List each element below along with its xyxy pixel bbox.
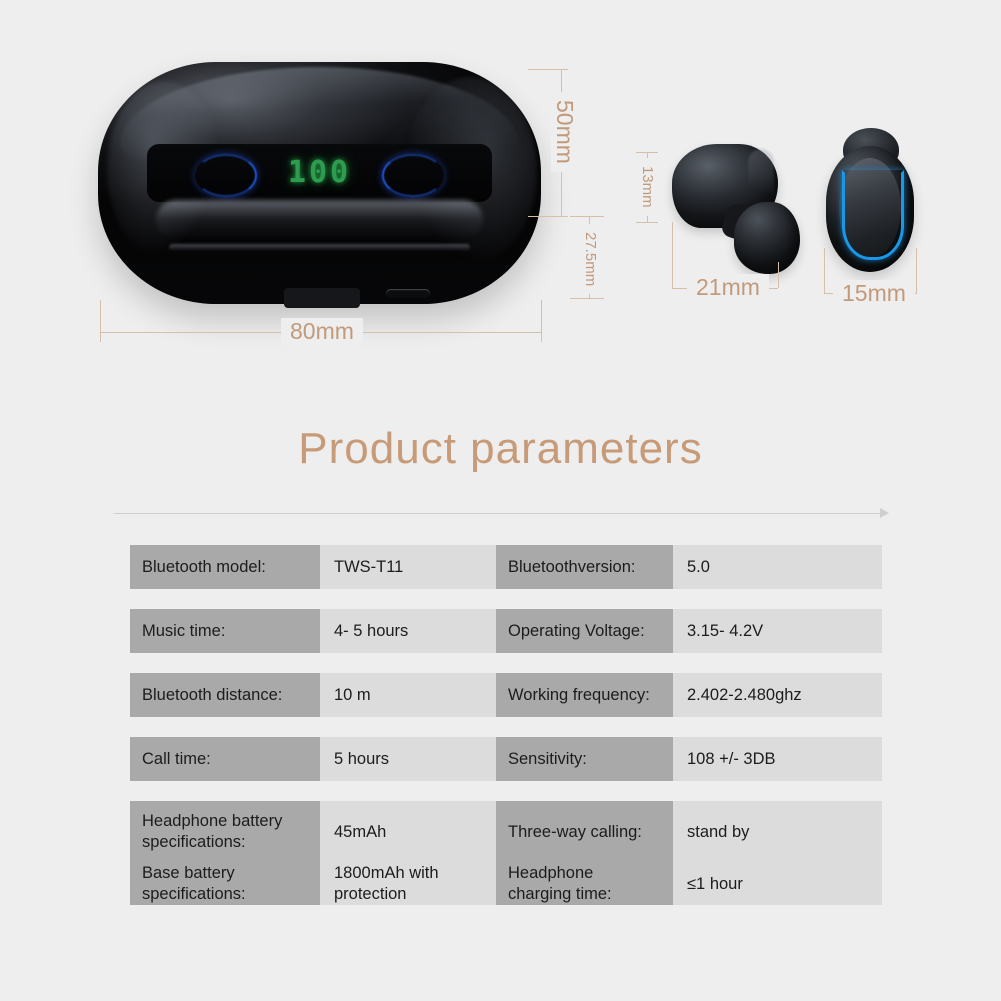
case-width-tick-left	[100, 300, 101, 342]
spec-label-line2: specifications:	[142, 884, 246, 905]
spec-value: 1800mAh with protection	[320, 863, 496, 905]
led-battery-percentage: 100	[147, 155, 493, 190]
spec-label: Sensitivity:	[496, 737, 673, 781]
spec-label: Bluetoothversion:	[496, 545, 673, 589]
case-depth-tick-top	[570, 216, 604, 217]
spec-label: Working frequency:	[496, 673, 673, 717]
earbud-length-tick-left	[672, 222, 673, 288]
case-height-tick-mid	[528, 216, 568, 217]
spec-label: Bluetooth distance:	[130, 673, 320, 717]
spec-label: Headphone charging time:	[496, 863, 673, 905]
spec-label-line1: Headphone battery	[142, 811, 282, 832]
spec-label-line2: specifications:	[142, 832, 282, 853]
case-depth-label: 27.5mm	[582, 224, 599, 294]
table-row: Bluetooth model: TWS-T11 Bluetoothversio…	[130, 545, 882, 589]
earbud-width-label: 15mm	[833, 280, 915, 307]
table-row: Headphone battery specifications: 45mAh …	[130, 801, 882, 863]
spec-value: 45mAh	[320, 801, 496, 863]
spec-label: Bluetooth model:	[130, 545, 320, 589]
page-title: Product parameters	[0, 424, 1001, 474]
title-divider	[114, 513, 886, 514]
charging-case-image: 100	[98, 62, 541, 304]
usb-c-port-icon	[386, 289, 430, 298]
spec-value-line1: 1800mAh with	[334, 863, 439, 884]
case-bottom-notch	[284, 288, 360, 308]
spec-label-line2: charging time:	[508, 884, 612, 905]
spec-value: 4- 5 hours	[320, 609, 496, 653]
spec-value: 5 hours	[320, 737, 496, 781]
earbud-side-view-image	[672, 144, 804, 280]
case-lid-seam	[169, 244, 470, 251]
spec-label-line1: Base battery	[142, 863, 246, 884]
case-depth-tick-bottom	[570, 298, 604, 299]
spec-label: Headphone battery specifications:	[130, 801, 320, 863]
table-row: Music time: 4- 5 hours Operating Voltage…	[130, 609, 882, 653]
case-height-tick-top	[528, 69, 568, 70]
spec-value: 3.15- 4.2V	[673, 609, 882, 653]
title-divider-arrow-icon	[880, 508, 889, 518]
earbud-length-tick-right	[778, 262, 779, 288]
led-ring-indicator-icon	[842, 170, 904, 260]
spec-value: stand by	[673, 801, 882, 863]
spec-value: 2.402-2.480ghz	[673, 673, 882, 717]
case-width-label: 80mm	[281, 318, 363, 345]
earbud-width-tick-left	[824, 248, 825, 294]
spec-value: ≤1 hour	[673, 863, 882, 905]
product-specification-table: Bluetooth model: TWS-T11 Bluetoothversio…	[130, 545, 882, 905]
spec-label: Call time:	[130, 737, 320, 781]
spec-label: Operating Voltage:	[496, 609, 673, 653]
table-row: Base battery specifications: 1800mAh wit…	[130, 863, 882, 905]
earbud-front-view-image	[826, 128, 914, 280]
spec-value-line2: protection	[334, 884, 439, 905]
case-height-label: 50mm	[551, 92, 578, 172]
spec-value: 108 +/- 3DB	[673, 737, 882, 781]
earbud-silicone-tip	[734, 202, 800, 274]
case-width-tick-right	[541, 300, 542, 342]
spec-label: Music time:	[130, 609, 320, 653]
table-row: Bluetooth distance: 10 m Working frequen…	[130, 673, 882, 717]
charging-case-body: 100	[98, 62, 541, 304]
spec-value: TWS-T11	[320, 545, 496, 589]
spec-value: 5.0	[673, 545, 882, 589]
case-lower-highlight	[156, 200, 484, 239]
table-row: Call time: 5 hours Sensitivity: 108 +/- …	[130, 737, 882, 781]
spec-label: Three-way calling:	[496, 801, 673, 863]
earbud-length-label: 21mm	[687, 274, 769, 301]
spec-label: Base battery specifications:	[130, 863, 320, 905]
earbud-width-tick-right	[916, 248, 917, 294]
product-visual-area: 100 80mm 50mm 27.5mm 13mm 21mm	[0, 0, 1001, 400]
spec-value: 10 m	[320, 673, 496, 717]
earbud-height-tick-bottom	[636, 222, 658, 223]
spec-label-line1: Headphone	[508, 863, 612, 884]
earbud-height-label: 13mm	[639, 158, 656, 216]
case-led-screen: 100	[147, 144, 493, 202]
